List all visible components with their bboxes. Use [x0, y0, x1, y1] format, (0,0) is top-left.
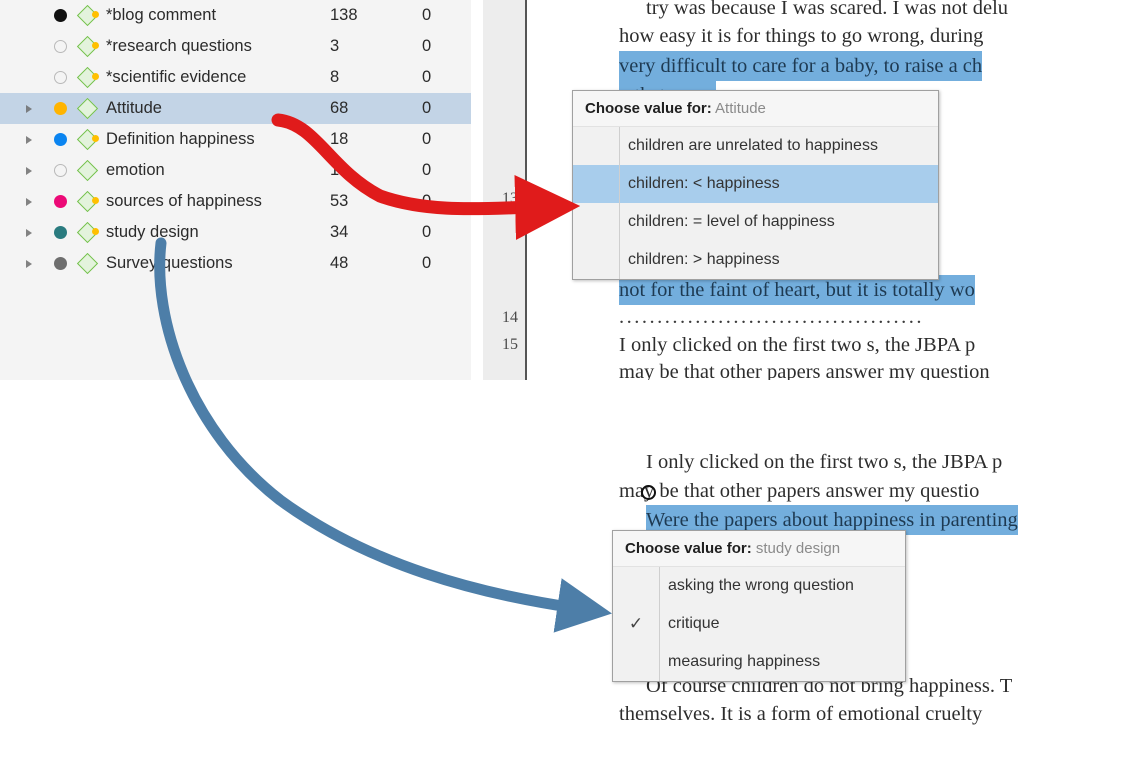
tree-row[interactable]: emotion10	[0, 155, 471, 186]
popup-header-prefix: Choose value for:	[625, 540, 752, 557]
tree-row-coverage-count: 0	[422, 192, 431, 211]
color-dot-icon	[54, 133, 67, 146]
color-dot-icon	[54, 9, 67, 22]
node-type-icon-wrap	[72, 39, 102, 54]
chevron-right-icon	[26, 198, 32, 206]
tree-row[interactable]: *blog comment1380	[0, 0, 471, 31]
tree-row-references-count: 1	[330, 161, 339, 180]
popup-menu-item-label: children: > happiness	[619, 251, 780, 269]
tree-row-label: sources of happiness	[102, 192, 346, 211]
popup-menu-item-label: critique	[659, 615, 720, 633]
popup-menu-item[interactable]: children: > happiness	[573, 241, 938, 279]
memo-badge-icon	[92, 135, 99, 142]
chevron-right-icon	[26, 105, 32, 113]
tree-row[interactable]: Definition happiness180	[0, 124, 471, 155]
color-dot-icon	[54, 195, 67, 208]
document-line[interactable]: may be that other papers answer my quest…	[619, 358, 990, 380]
node-type-icon-wrap	[72, 101, 102, 116]
diamond-node-icon	[76, 253, 97, 274]
popup-menu-item[interactable]: ✓critique	[613, 605, 905, 643]
choose-value-popup-attitude[interactable]: Choose value for: Attitude children are …	[572, 90, 939, 280]
document-dotted-separator: ........................................	[619, 306, 924, 329]
gutter-line-number: 13	[502, 190, 518, 208]
tree-row-coverage-count: 0	[422, 37, 431, 56]
tree-row[interactable]: study design340	[0, 217, 471, 248]
popup-menu-item[interactable]: asking the wrong question	[613, 567, 905, 605]
color-dot-icon	[54, 164, 67, 177]
node-type-icon-wrap	[72, 225, 102, 240]
popup-menu-item-label: measuring happiness	[659, 653, 820, 671]
popup-item-list-attitude[interactable]: children are unrelated to happinesschild…	[573, 127, 938, 279]
document-line[interactable]: I only clicked on the first two s, the J…	[619, 331, 975, 359]
node-color-dot	[48, 164, 72, 177]
gutter-line-number: 14	[502, 309, 518, 327]
tree-row-label: *scientific evidence	[102, 68, 346, 87]
chevron-right-icon	[26, 260, 32, 268]
memo-badge-icon	[92, 197, 99, 204]
tree-row-references-count: 18	[330, 130, 348, 149]
expander-toggle[interactable]	[26, 105, 48, 113]
memo-badge-icon	[92, 73, 99, 80]
tree-row-references-count: 8	[330, 68, 339, 87]
expander-toggle[interactable]	[26, 229, 48, 237]
tree-row-references-count: 34	[330, 223, 348, 242]
mouse-cursor-ring	[641, 485, 656, 500]
tree-row[interactable]: sources of happiness530	[0, 186, 471, 217]
popup-menu-item-label: children are unrelated to happiness	[619, 137, 878, 155]
node-type-icon-wrap	[72, 163, 102, 178]
tree-row-label: Survey questions	[102, 254, 346, 273]
node-color-dot	[48, 102, 72, 115]
node-type-icon-wrap	[72, 194, 102, 209]
document-line[interactable]: themselves. It is a form of emotional cr…	[619, 700, 982, 728]
tree-row-label: Attitude	[102, 99, 346, 118]
tree-row-references-count: 48	[330, 254, 348, 273]
node-type-icon-wrap	[72, 132, 102, 147]
popup-header-subject: study design	[756, 540, 840, 557]
popup-gutter-divider	[659, 567, 660, 681]
document-line[interactable]: how easy it is for things to go wrong, d…	[619, 22, 983, 50]
color-dot-icon	[54, 257, 67, 270]
document-line-highlighted[interactable]: very difficult to care for a baby, to ra…	[619, 51, 982, 81]
coding-tree-panel[interactable]: *blog comment1380*research questions30*s…	[0, 0, 471, 380]
popup-menu-item-label: children: = level of happiness	[619, 213, 835, 231]
node-type-icon-wrap	[72, 256, 102, 271]
memo-badge-icon	[92, 42, 99, 49]
diamond-node-icon	[76, 98, 97, 119]
tree-row-references-count: 53	[330, 192, 348, 211]
tree-row-coverage-count: 0	[422, 6, 431, 25]
chevron-right-icon	[26, 136, 32, 144]
popup-header-subject: Attitude	[715, 100, 766, 117]
document-line[interactable]: I only clicked on the first two s, the J…	[646, 448, 1002, 476]
node-color-dot	[48, 195, 72, 208]
document-line[interactable]: try was because I was scared. I was not …	[646, 0, 1008, 22]
popup-menu-item-label: asking the wrong question	[659, 577, 854, 595]
tree-row[interactable]: *scientific evidence80	[0, 62, 471, 93]
chevron-right-icon	[26, 167, 32, 175]
node-color-dot	[48, 40, 72, 53]
color-dot-icon	[54, 40, 67, 53]
popup-gutter-divider	[619, 127, 620, 279]
tree-row-label: study design	[102, 223, 346, 242]
node-color-dot	[48, 133, 72, 146]
document-line-number-gutter: 131415	[483, 0, 527, 380]
expander-toggle[interactable]	[26, 136, 48, 144]
tree-row[interactable]: Survey questions480	[0, 248, 471, 279]
tree-row-coverage-count: 0	[422, 130, 431, 149]
popup-header-attitude: Choose value for: Attitude	[573, 91, 938, 127]
tree-row-references-count: 138	[330, 6, 358, 25]
node-color-dot	[48, 226, 72, 239]
color-dot-icon	[54, 226, 67, 239]
node-type-icon-wrap	[72, 70, 102, 85]
popup-item-list-study-design[interactable]: asking the wrong question✓critiquemeasur…	[613, 567, 905, 681]
node-type-icon-wrap	[72, 8, 102, 23]
expander-toggle[interactable]	[26, 260, 48, 268]
tree-row-references-count: 68	[330, 99, 348, 118]
gutter-line-number: 15	[502, 336, 518, 354]
tree-row-coverage-count: 0	[422, 223, 431, 242]
popup-header-prefix: Choose value for:	[585, 100, 712, 117]
tree-row-label: emotion	[102, 161, 346, 180]
color-dot-icon	[54, 71, 67, 84]
popup-menu-item[interactable]: children are unrelated to happiness	[573, 127, 938, 165]
tree-row-label: Definition happiness	[102, 130, 346, 149]
popup-menu-item[interactable]: children: = level of happiness	[573, 203, 938, 241]
tree-row-coverage-count: 0	[422, 254, 431, 273]
diamond-node-icon	[76, 160, 97, 181]
popup-menu-item-label: children: < happiness	[619, 175, 780, 193]
choose-value-popup-study-design[interactable]: Choose value for: study design asking th…	[612, 530, 906, 682]
expander-toggle[interactable]	[26, 198, 48, 206]
node-color-dot	[48, 257, 72, 270]
color-dot-icon	[54, 102, 67, 115]
expander-toggle[interactable]	[26, 167, 48, 175]
tree-row-label: *research questions	[102, 37, 346, 56]
tree-row-references-count: 3	[330, 37, 339, 56]
document-line[interactable]: may be that other papers answer my quest…	[619, 477, 979, 505]
tree-row[interactable]: *research questions30	[0, 31, 471, 62]
node-color-dot	[48, 9, 72, 22]
expander-toggle	[26, 12, 48, 20]
popup-menu-item[interactable]: measuring happiness	[613, 643, 905, 681]
tree-row-label: *blog comment	[102, 6, 346, 25]
check-icon: ✓	[613, 614, 659, 634]
chevron-right-icon	[26, 229, 32, 237]
memo-badge-icon	[92, 11, 99, 18]
tree-row-coverage-count: 0	[422, 99, 431, 118]
popup-header-study-design: Choose value for: study design	[613, 531, 905, 567]
tree-row-coverage-count: 0	[422, 68, 431, 87]
expander-toggle	[26, 74, 48, 82]
memo-badge-icon	[92, 228, 99, 235]
popup-menu-item[interactable]: children: < happiness	[573, 165, 938, 203]
node-color-dot	[48, 71, 72, 84]
tree-row[interactable]: Attitude680	[0, 93, 471, 124]
tree-row-coverage-count: 0	[422, 161, 431, 180]
expander-toggle	[26, 43, 48, 51]
